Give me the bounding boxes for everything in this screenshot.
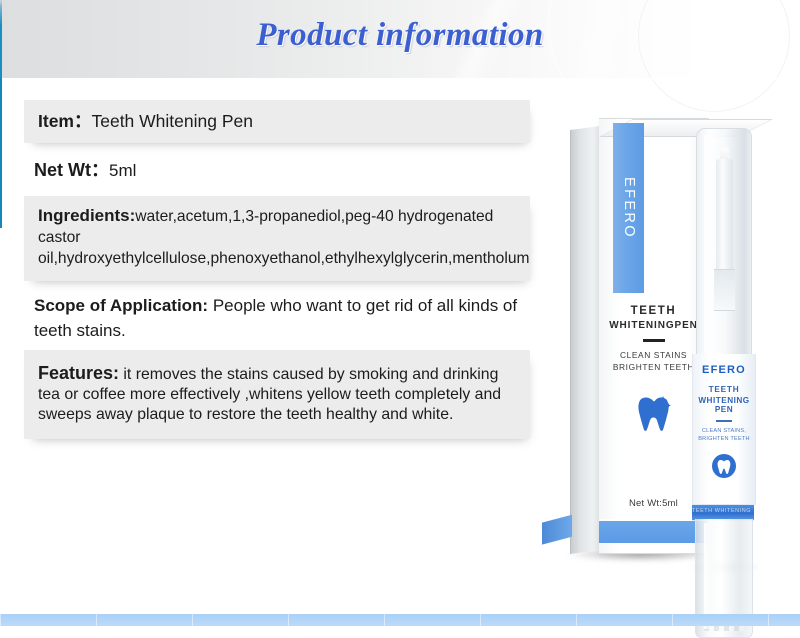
pen-brush-shaft [716,159,733,279]
product-pen: EFERO TEETH WHITENING PEN CLEAN STAINS, … [688,128,758,568]
spec-label-features: Features: [38,363,119,383]
spec-row-scope-of-application: Scope of Application: People who want to… [24,285,530,350]
pen-tagline-line1: CLEAN STAINS, [693,427,755,435]
spec-label-ingredients: Ingredients: [38,206,135,225]
pen-tagline-line2: BRIGHTEN TEETH [693,435,755,443]
pen-divider [716,420,732,422]
pen-brand-text: EFERO [693,364,755,376]
page-title: Product information [0,17,800,54]
spec-row-features: Features: it removes the stains caused b… [24,350,530,439]
spec-row-net-wt: Net Wt：5ml [24,147,530,195]
left-accent-rule-lower [0,78,2,228]
pen-transparent-cap [696,128,752,360]
product-photo: EFERO TEETH WHITENINGPEN CLEAN STAINS BR… [548,100,800,580]
spec-label-item: Item： [38,111,91,131]
pen-band-text: TEETH WHITENING [692,508,754,514]
carton-brand-band: EFERO [613,123,644,293]
tooth-badge-icon [693,453,755,484]
carton-base-side-band [542,515,572,545]
product-spec-list: Item：Teeth Whitening Pen Net Wt：5ml Ingr… [24,100,530,439]
spec-row-ingredients: Ingredients:water,acetum,1,3-propanediol… [24,196,530,280]
carton-brand-text: EFERO [621,177,637,239]
bottom-accent-strip [0,614,800,626]
spec-label-scope: Scope of Application: [34,296,208,315]
spec-label-net-wt: Net Wt： [34,160,109,180]
product-information-page: Product information Item：Teeth Whitening… [0,0,800,626]
spec-value-item: Teeth Whitening Pen [91,111,253,131]
page-header-banner: Product information [0,0,800,78]
left-accent-rule [0,0,2,83]
spec-value-net-wt: 5ml [109,161,136,180]
carton-side-panel [570,126,601,554]
pen-title-line2: WHITENING PEN [693,396,755,414]
header-divider [0,78,800,80]
pen-title-line1: TEETH [693,385,755,394]
spec-row-item: Item：Teeth Whitening Pen [24,100,530,143]
pen-inner-ring [714,269,735,311]
pen-label: EFERO TEETH WHITENING PEN CLEAN STAINS, … [692,354,756,505]
carton-divider [643,339,665,342]
